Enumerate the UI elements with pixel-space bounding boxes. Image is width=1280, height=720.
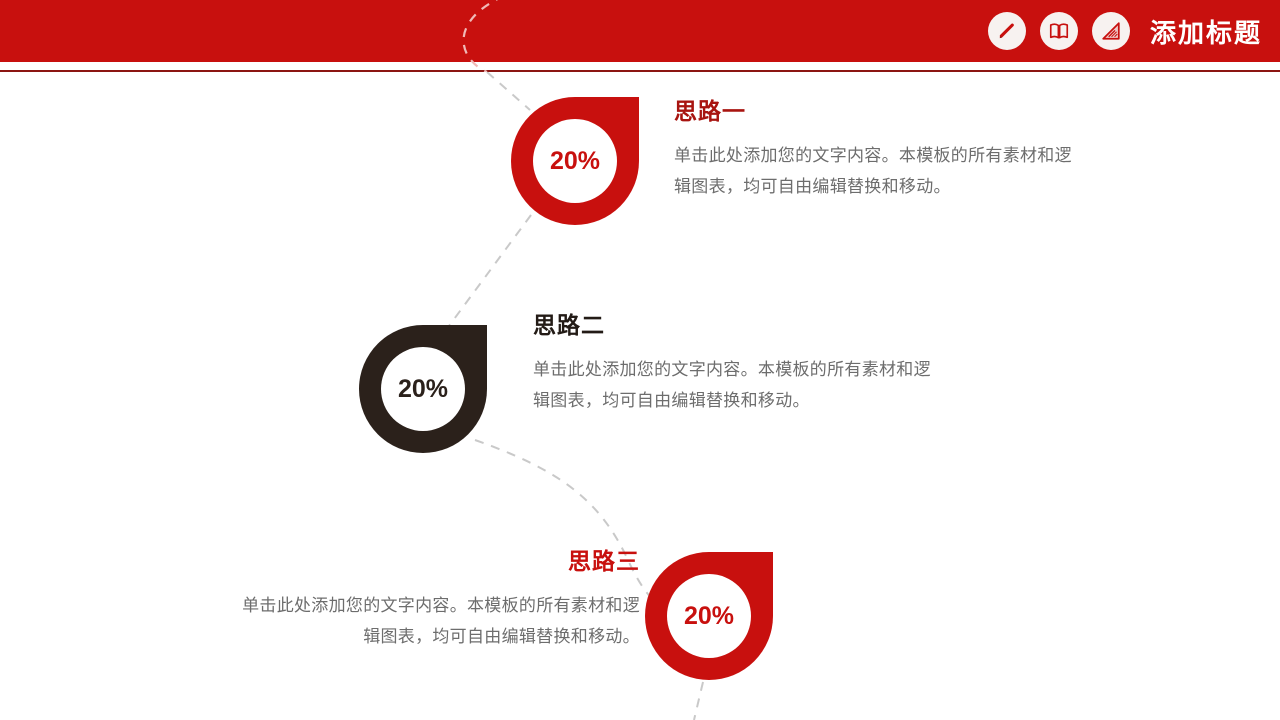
item-body-2: 单击此处添加您的文字内容。本模板的所有素材和逻辑图表，均可自由编辑替换和移动。 xyxy=(533,354,933,417)
item-title-1: 思路一 xyxy=(674,98,1074,126)
open-book-icon[interactable] xyxy=(1040,12,1078,50)
page-title: 添加标题 xyxy=(1150,13,1262,50)
badge-inner-circle: 20% xyxy=(533,119,617,203)
item-title-3: 思路三 xyxy=(240,548,640,576)
item-body-1: 单击此处添加您的文字内容。本模板的所有素材和逻辑图表，均可自由编辑替换和移动。 xyxy=(674,140,1074,203)
progress-badge-1[interactable]: 20% xyxy=(511,97,639,225)
content-block-3: 思路三 单击此处添加您的文字内容。本模板的所有素材和逻辑图表，均可自由编辑替换和… xyxy=(240,548,640,652)
progress-badge-2[interactable]: 20% xyxy=(359,325,487,453)
badge-percent-label: 20% xyxy=(684,604,734,629)
header-divider-rule xyxy=(0,70,1280,72)
progress-badge-3[interactable]: 20% xyxy=(645,552,773,680)
badge-inner-circle: 20% xyxy=(667,574,751,658)
badge-percent-label: 20% xyxy=(550,149,600,174)
slide-canvas: 添加标题 20% 思路一 单击此处添加您的文字内容。本模板的所有素材和逻辑图表，… xyxy=(0,0,1280,720)
header-toolbar: 添加标题 xyxy=(988,0,1262,62)
item-body-3: 单击此处添加您的文字内容。本模板的所有素材和逻辑图表，均可自由编辑替换和移动。 xyxy=(240,590,640,653)
item-title-2: 思路二 xyxy=(533,312,933,340)
content-block-1: 思路一 单击此处添加您的文字内容。本模板的所有素材和逻辑图表，均可自由编辑替换和… xyxy=(674,98,1074,202)
set-square-ruler-icon[interactable] xyxy=(1092,12,1130,50)
content-block-2: 思路二 单击此处添加您的文字内容。本模板的所有素材和逻辑图表，均可自由编辑替换和… xyxy=(533,312,933,416)
pen-icon[interactable] xyxy=(988,12,1026,50)
badge-inner-circle: 20% xyxy=(381,347,465,431)
badge-percent-label: 20% xyxy=(398,377,448,402)
